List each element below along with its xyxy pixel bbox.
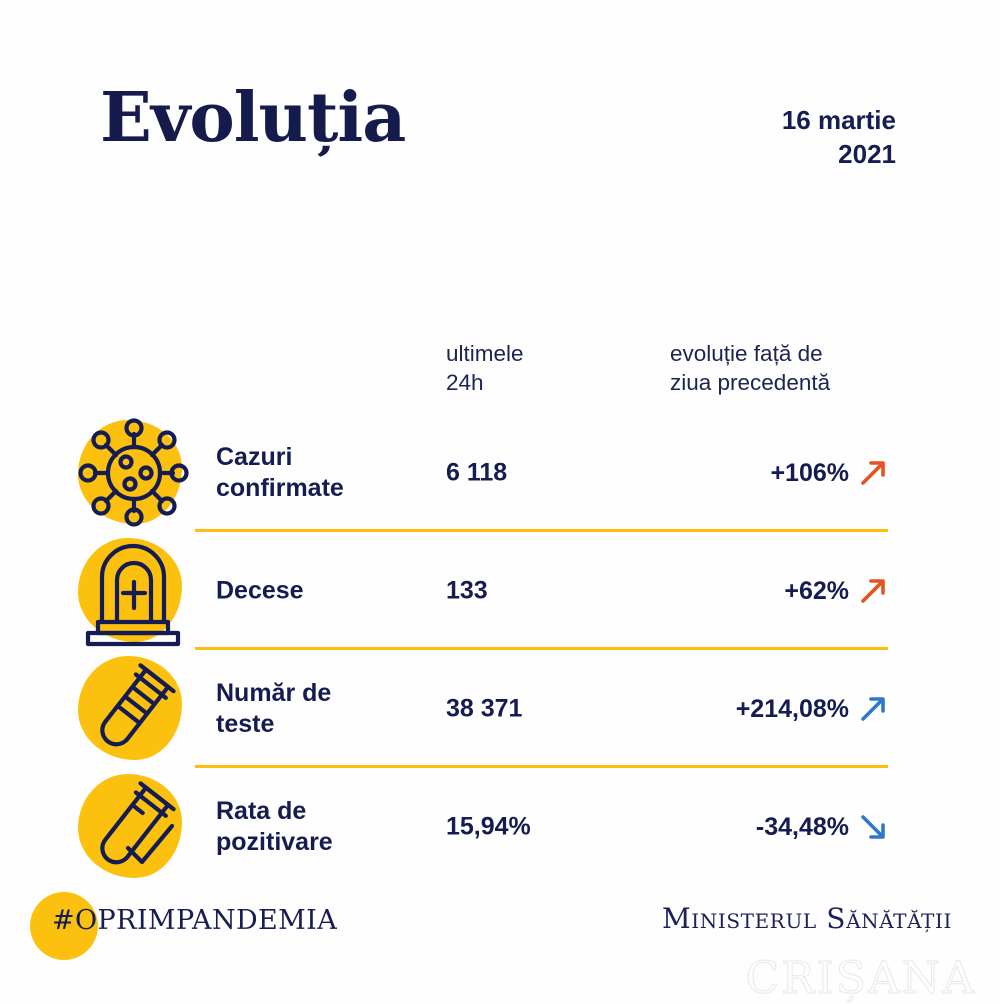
row-label: Număr de teste <box>216 678 331 740</box>
page-title: Evoluția <box>100 84 405 152</box>
table-row: Decese 133 +62% <box>0 532 1000 650</box>
row-change: +62% <box>784 576 888 606</box>
row-value: 38 371 <box>446 695 522 724</box>
date-day: 16 martie <box>782 103 896 137</box>
header: Evoluția 16 martie 2021 <box>0 0 1000 260</box>
test-tube-check-icon <box>72 770 194 884</box>
table-row: Rata de pozitivare 15,94% -34,48% <box>0 768 1000 886</box>
arrow-up-right-icon <box>858 576 888 606</box>
watermark: CRIȘANA <box>746 953 976 1004</box>
test-tube-icon <box>72 652 194 766</box>
footer: #OPRIMPANDEMIA Ministerul Sănătății CRIȘ… <box>0 880 1000 1000</box>
column-header-evolution: evoluție față de ziua precedentă <box>670 340 830 398</box>
date-year: 2021 <box>782 137 896 171</box>
tombstone-icon <box>72 534 194 648</box>
row-change-text: +62% <box>784 577 849 606</box>
row-change-text: -34,48% <box>756 813 849 842</box>
row-change-text: +214,08% <box>736 695 849 724</box>
row-change: +106% <box>770 458 888 488</box>
row-label-line2: confirmate <box>216 473 344 504</box>
ministry-name: Ministerul Sănătății <box>662 902 952 935</box>
row-label-line2: teste <box>216 709 331 740</box>
row-label-line1: Număr de <box>216 678 331 709</box>
row-label-line2: pozitivare <box>216 827 333 858</box>
row-label-line1: Rata de <box>216 796 333 827</box>
date-block: 16 martie 2021 <box>782 103 896 172</box>
column-header-last-24h-line1: ultimele <box>446 340 524 369</box>
virus-icon <box>72 416 194 530</box>
tombstone-glyph <box>72 534 194 648</box>
test-tube-glyph <box>72 652 194 766</box>
column-header-last-24h-line2: 24h <box>446 369 524 398</box>
arrow-up-right-icon <box>858 458 888 488</box>
arrow-down-right-icon <box>858 812 888 842</box>
column-header-last-24h: ultimele 24h <box>446 340 524 398</box>
row-label: Cazuri confirmate <box>216 442 344 504</box>
row-label-line1: Cazuri <box>216 442 344 473</box>
table-row: Cazuri confirmate 6 118 +106% <box>0 414 1000 532</box>
row-label: Rata de pozitivare <box>216 796 333 858</box>
test-tube-check-glyph <box>72 770 194 884</box>
arrow-up-right-icon <box>858 694 888 724</box>
stats-table: Cazuri confirmate 6 118 +106% <box>0 414 1000 886</box>
row-value: 133 <box>446 577 488 606</box>
row-change-text: +106% <box>770 459 849 488</box>
table-row: Număr de teste 38 371 +214,08% <box>0 650 1000 768</box>
hashtag-campaign: #OPRIMPANDEMIA <box>52 905 337 936</box>
row-label: Decese <box>216 576 304 607</box>
column-header-evolution-line2: ziua precedentă <box>670 369 830 398</box>
row-value: 15,94% <box>446 813 531 842</box>
row-change: +214,08% <box>736 694 888 724</box>
column-header-evolution-line1: evoluție față de <box>670 340 830 369</box>
row-value: 6 118 <box>446 459 507 488</box>
column-headers: ultimele 24h evoluție față de ziua prece… <box>0 340 1000 410</box>
row-label-line1: Decese <box>216 576 304 607</box>
row-change: -34,48% <box>756 812 888 842</box>
virus-glyph <box>72 416 194 530</box>
